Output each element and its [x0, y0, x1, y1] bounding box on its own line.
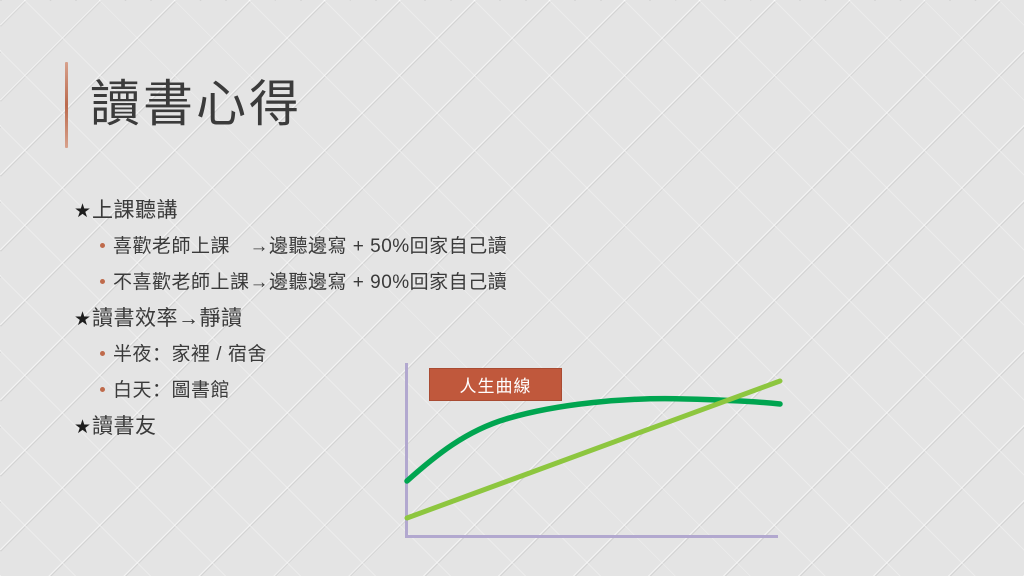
chart-label-badge[interactable]: 人生曲線	[429, 368, 562, 401]
list-item-label: 白天：圖書館	[113, 373, 230, 409]
star-bullet-icon: ★	[74, 202, 91, 221]
list-item[interactable]: ★ 上課聽講	[74, 193, 594, 229]
list-item-label: 喜歡老師上課 →邊聽邊寫 + 50%回家自己讀	[113, 229, 507, 265]
slide-canvas: 讀書心得 ★ 上課聽講 喜歡老師上課 →邊聽邊寫 + 50%回家自己讀 不喜歡老…	[0, 0, 1024, 576]
list-item-label: 讀書效率→靜讀	[92, 301, 243, 337]
list-item-label: 讀書友	[92, 409, 157, 445]
star-bullet-icon: ★	[74, 310, 91, 329]
round-bullet-icon	[100, 279, 105, 284]
title-accent-bar	[65, 62, 68, 148]
life-curve-chart: 人生曲線	[396, 355, 796, 550]
round-bullet-icon	[100, 351, 105, 356]
list-item[interactable]: 喜歡老師上課 →邊聽邊寫 + 50%回家自己讀	[100, 229, 594, 265]
chart-label-text: 人生曲線	[460, 372, 532, 397]
list-item[interactable]: 不喜歡老師上課→邊聽邊寫 + 90%回家自己讀	[100, 265, 594, 301]
round-bullet-icon	[100, 243, 105, 248]
dark-green-curve	[407, 399, 780, 481]
list-item-label: 上課聽講	[92, 193, 178, 229]
list-item-label: 不喜歡老師上課→邊聽邊寫 + 90%回家自己讀	[113, 265, 507, 301]
star-bullet-icon: ★	[74, 418, 91, 437]
round-bullet-icon	[100, 387, 105, 392]
list-item-label: 半夜：家裡 / 宿舍	[113, 337, 267, 373]
list-item[interactable]: ★ 讀書效率→靜讀	[74, 301, 594, 337]
page-title: 讀書心得	[90, 68, 302, 140]
